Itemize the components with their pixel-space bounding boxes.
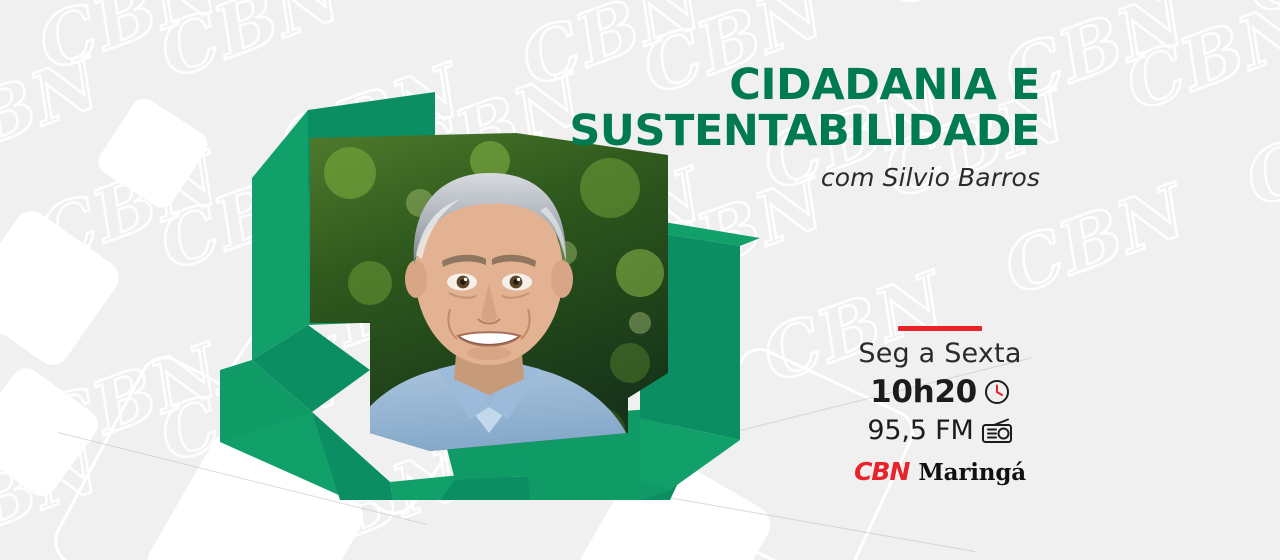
radio-icon — [981, 418, 1013, 444]
watermark-cbn-text: CBN — [1234, 0, 1280, 31]
broadcast-frequency: 95,5 FM — [867, 415, 973, 446]
broadcast-time: 10h20 — [870, 374, 977, 410]
broadcast-time-row: 10h20 — [840, 374, 1040, 410]
station-logo: CBN Maringá — [840, 457, 1040, 486]
red-divider-rule — [898, 326, 982, 331]
watermark-cbn-text: CBN — [0, 423, 112, 560]
decor-polygon-solid-1 — [0, 204, 126, 371]
watermark-cbn-text: CBN — [0, 39, 112, 183]
program-host-subtitle: com Silvio Barros — [400, 163, 1040, 192]
watermark-cbn-text: CBN — [751, 0, 956, 15]
watermark-cbn-text: CBN — [1114, 0, 1280, 127]
program-title-line-2: SUSTENTABILIDADE — [400, 108, 1040, 154]
clock-icon — [984, 379, 1010, 405]
watermark-cbn-text: CBN — [390, 0, 595, 7]
cbn-network-wordmark: CBN — [854, 457, 909, 486]
broadcast-frequency-row: 95,5 FM — [840, 415, 1040, 446]
watermark-cbn-text: CBN — [0, 231, 112, 375]
decor-polygon-solid-4 — [94, 94, 213, 213]
decor-polygon-solid-2 — [0, 362, 104, 502]
watermark-cbn-text: CBN — [1234, 79, 1280, 223]
cbn-program-banner: CBNCBNCBNCBNCBNCBNCBNCBNCBNCBNCBNCBNCBNC… — [0, 0, 1280, 560]
watermark-cbn-text: CBN — [27, 519, 232, 560]
program-title-line-1: CIDADANIA E — [400, 62, 1040, 108]
watermark-cbn-text: CBN — [873, 0, 1078, 23]
program-title-block: CIDADANIA E SUSTENTABILIDADE com Silvio … — [400, 62, 1040, 192]
decor-hairline-3 — [640, 492, 975, 552]
broadcast-schedule-block: Seg a Sexta 10h20 95,5 FM — [840, 326, 1040, 486]
station-city-name: Maringá — [918, 459, 1026, 486]
broadcast-days: Seg a Sexta — [840, 339, 1040, 369]
